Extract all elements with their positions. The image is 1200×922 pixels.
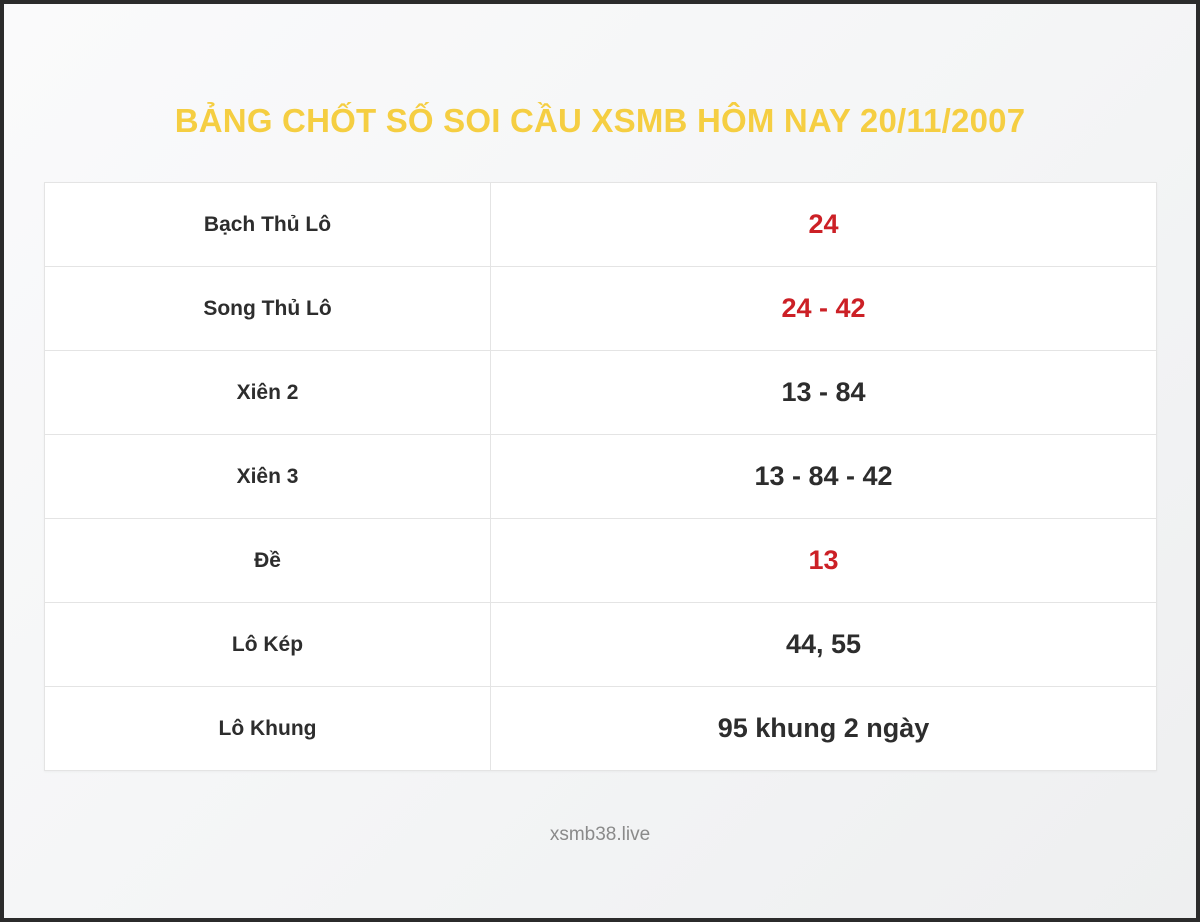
- page-title: BẢNG CHỐT SỐ SOI CẦU XSMB HÔM NAY 20/11/…: [4, 100, 1196, 142]
- table-row: Xiên 3 13 - 84 - 42: [45, 435, 1157, 519]
- row-label: Xiên 2: [45, 351, 491, 435]
- row-value: 24 - 42: [491, 267, 1157, 351]
- row-value: 44, 55: [491, 603, 1157, 687]
- page-container: BẢNG CHỐT SỐ SOI CẦU XSMB HÔM NAY 20/11/…: [4, 4, 1196, 918]
- table-row: Lô Khung 95 khung 2 ngày: [45, 687, 1157, 771]
- table-row: Lô Kép 44, 55: [45, 603, 1157, 687]
- prediction-table-body: Bạch Thủ Lô 24 Song Thủ Lô 24 - 42 Xiên …: [45, 183, 1157, 771]
- row-label: Lô Kép: [45, 603, 491, 687]
- row-label: Lô Khung: [45, 687, 491, 771]
- table-row: Đề 13: [45, 519, 1157, 603]
- row-label: Bạch Thủ Lô: [45, 183, 491, 267]
- prediction-table: Bạch Thủ Lô 24 Song Thủ Lô 24 - 42 Xiên …: [44, 182, 1157, 771]
- row-value: 13: [491, 519, 1157, 603]
- row-value: 13 - 84 - 42: [491, 435, 1157, 519]
- row-label: Đề: [45, 519, 491, 603]
- row-value: 13 - 84: [491, 351, 1157, 435]
- row-value: 24: [491, 183, 1157, 267]
- prediction-table-wrapper: Bạch Thủ Lô 24 Song Thủ Lô 24 - 42 Xiên …: [44, 182, 1157, 771]
- site-watermark: xsmb38.live: [4, 824, 1196, 846]
- table-row: Xiên 2 13 - 84: [45, 351, 1157, 435]
- row-label: Xiên 3: [45, 435, 491, 519]
- row-value: 95 khung 2 ngày: [491, 687, 1157, 771]
- row-label: Song Thủ Lô: [45, 267, 491, 351]
- table-row: Song Thủ Lô 24 - 42: [45, 267, 1157, 351]
- table-row: Bạch Thủ Lô 24: [45, 183, 1157, 267]
